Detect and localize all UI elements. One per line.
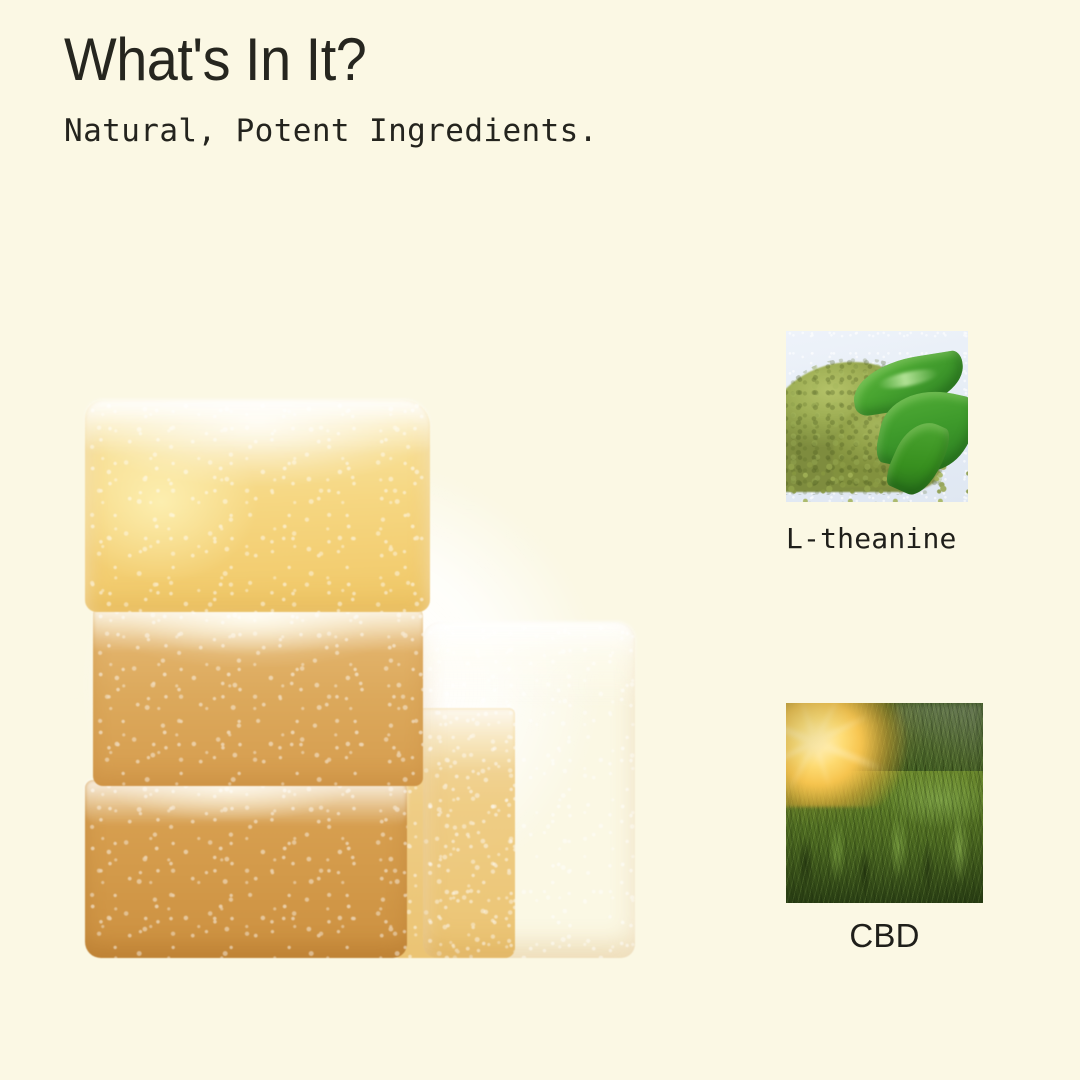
cbd-thumbnail	[786, 703, 983, 903]
sugar-speckle	[423, 622, 635, 958]
ingredient-label-l-theanine: L-theanine	[786, 523, 996, 555]
sugar-crust	[85, 780, 407, 826]
page-title: What's In It?	[64, 28, 789, 92]
ingredient-label-cbd: CBD	[786, 917, 983, 955]
l-theanine-thumbnail	[786, 331, 968, 502]
sugar-speckle	[85, 780, 407, 958]
sugar-crust	[423, 622, 635, 709]
ingredients-page: What's In It? Natural, Potent Ingredient…	[0, 0, 1080, 1080]
ingredient-list: L-theanine CBD	[786, 331, 996, 955]
gummy-cube-right	[423, 622, 635, 958]
image-vignette	[786, 703, 983, 903]
gummy-stack	[55, 378, 665, 958]
sugar-speckle	[85, 400, 430, 612]
ingredient-card-cbd[interactable]: CBD	[786, 703, 996, 955]
gummy-cube-top	[85, 400, 430, 612]
sugar-crust	[93, 606, 423, 653]
gummy-cube-bottom	[85, 780, 407, 958]
ingredient-card-l-theanine[interactable]: L-theanine	[786, 331, 996, 555]
product-hero-image	[55, 378, 665, 958]
page-subtitle: Natural, Potent Ingredients.	[64, 112, 844, 150]
sugar-speckle	[93, 606, 423, 786]
page-header: What's In It? Natural, Potent Ingredient…	[64, 28, 844, 150]
sugar-crust	[85, 400, 430, 455]
gummy-cube-middle	[93, 606, 423, 786]
